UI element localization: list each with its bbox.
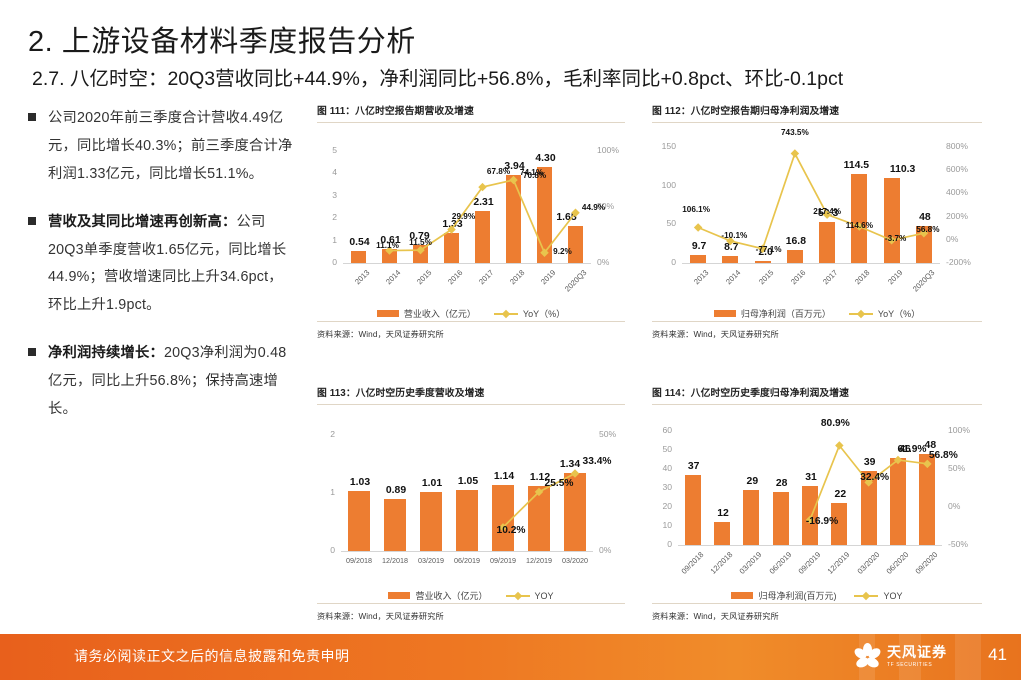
chart-card-fig111: 图 111：八亿时空报告期营收及增速 0123450%50%100%0.540.… xyxy=(317,103,625,348)
chart-title-fig111: 图 111：八亿时空报告期营收及增速 xyxy=(317,103,625,122)
chart-plot-fig113: 0120%50%1.030.891.011.051.141.121.3409/2… xyxy=(317,405,625,603)
chart-plot-fig114: 0102030405060-50%0%50%100%37122928312239… xyxy=(652,405,982,603)
line-value-label: 9.2% xyxy=(545,247,581,256)
line-value-label: 106.1% xyxy=(678,205,714,214)
legend-item-line: YOY xyxy=(854,591,902,601)
line-value-label: 80.9% xyxy=(817,418,853,429)
legend-line-swatch xyxy=(494,310,518,318)
chart-card-fig112: 图 112：八亿时空报告期归母净利润及增速 050100150-200%0%20… xyxy=(652,103,982,348)
bullet-body-0: 公司2020年前三季度合计营收4.49亿元，同比增长40.3%；前三季度合计净利… xyxy=(48,110,293,182)
legend-line-swatch xyxy=(506,592,530,600)
footer-stripe xyxy=(955,634,981,680)
brand-logo: 天风证券 TF SECURITIES xyxy=(855,643,947,669)
chart-legend: 营业收入（亿元） YoY（%） xyxy=(317,307,625,320)
legend-bar-label: 归母净利润(百万元) xyxy=(758,589,836,602)
legend-line-label: YOY xyxy=(535,591,554,601)
legend-bar-swatch xyxy=(377,310,399,317)
chart-plot-fig111: 0123450%50%100%0.540.610.791.332.313.944… xyxy=(317,123,625,321)
trend-line xyxy=(317,123,625,321)
line-value-label: 29.9% xyxy=(446,212,482,221)
legend-item-line: YOY xyxy=(506,591,554,601)
bullet-text-1: 营收及其同比增速再创新高：公司20Q3单季度营收1.65亿元，同比增长44.9%… xyxy=(48,209,296,321)
legend-bar-swatch xyxy=(731,592,753,599)
footer-bar: 请务必阅读正文之后的信息披露和免责申明 天风证券 TF SECURITIES 4… xyxy=(0,634,1021,680)
chart-legend: 归母净利润（百万元） YoY（%） xyxy=(652,307,982,320)
list-item: 公司2020年前三季度合计营收4.49亿元，同比增长40.3%；前三季度合计净利… xyxy=(28,105,296,189)
line-value-label: -10.1% xyxy=(716,231,752,240)
line-value-label: 217.4% xyxy=(809,207,845,216)
list-item: 净利润持续增长：20Q3净利润为0.48亿元，同比上升56.8%；保持高速增长。 xyxy=(28,340,296,424)
line-value-label: 70.8% xyxy=(523,171,546,180)
legend-line-label: YoY（%） xyxy=(878,307,920,320)
list-item: 营收及其同比增速再创新高：公司20Q3单季度营收1.65亿元，同比增长44.9%… xyxy=(28,209,296,321)
legend-item-line: YoY（%） xyxy=(849,307,920,320)
legend-bar-label: 营业收入（亿元） xyxy=(415,589,487,602)
legend-line-label: YoY（%） xyxy=(523,307,565,320)
chart-source-fig113: 资料来源：Wind，天风证券研究所 xyxy=(317,604,625,622)
page-subtitle: 2.7. 八亿时空：20Q3营收同比+44.9%，净利润同比+56.8%，毛利率… xyxy=(32,62,843,91)
trend-line xyxy=(652,123,982,321)
chart-card-fig114: 图 114：八亿时空历史季度归母净利润及增速 0102030405060-50%… xyxy=(652,385,982,630)
line-value-label: -3.7% xyxy=(878,234,914,243)
bullet-square-icon xyxy=(28,113,36,121)
bullet-square-icon xyxy=(28,348,36,356)
line-value-label: 25.5% xyxy=(541,478,577,489)
line-value-label: 743.5% xyxy=(777,128,813,137)
line-value-label: 33.4% xyxy=(579,456,615,467)
bullet-text-0: 公司2020年前三季度合计营收4.49亿元，同比增长40.3%；前三季度合计净利… xyxy=(48,105,296,189)
legend-item-line: YoY（%） xyxy=(494,307,565,320)
legend-bar-label: 归母净利润（百万元） xyxy=(741,307,831,320)
line-value-label: 11.5% xyxy=(403,238,439,247)
bullet-lead-2: 净利润持续增长： xyxy=(48,345,164,361)
chart-title-fig112: 图 112：八亿时空报告期归母净利润及增速 xyxy=(652,103,982,122)
chart-source-fig112: 资料来源：Wind，天风证券研究所 xyxy=(652,322,982,340)
bullet-square-icon xyxy=(28,217,36,225)
legend-item-bar: 归母净利润(百万元) xyxy=(731,589,836,602)
legend-item-bar: 归母净利润（百万元） xyxy=(714,307,831,320)
legend-item-bar: 营业收入（亿元） xyxy=(388,589,487,602)
bullet-lead-1: 营收及其同比增速再创新高： xyxy=(48,214,236,230)
line-value-label: 56.8% xyxy=(925,450,961,461)
chart-card-fig113: 图 113：八亿时空历史季度营收及增速 0120%50%1.030.891.01… xyxy=(317,385,625,630)
chart-plot-fig112: 050100150-200%0%200%400%600%800%9.78.72.… xyxy=(652,123,982,321)
chart-legend: 营业收入（亿元） YOY xyxy=(317,589,625,602)
line-value-label: 44.9% xyxy=(576,203,612,212)
legend-line-label: YOY xyxy=(883,591,902,601)
legend-line-swatch xyxy=(849,310,873,318)
chart-legend: 归母净利润(百万元) YOY xyxy=(652,589,982,602)
line-value-label: -16.9% xyxy=(804,516,840,527)
footer-disclaimer: 请务必阅读正文之后的信息披露和免责申明 xyxy=(74,646,350,666)
chart-title-fig114: 图 114：八亿时空历史季度归母净利润及增速 xyxy=(652,385,982,404)
slide: 2. 上游设备材料季度报告分析 2.7. 八亿时空：20Q3营收同比+44.9%… xyxy=(0,0,1021,680)
legend-line-swatch xyxy=(854,592,878,600)
line-value-label: 56.8% xyxy=(910,225,946,234)
brand-name-en: TF SECURITIES xyxy=(887,663,947,668)
chart-source-fig114: 资料来源：Wind，天风证券研究所 xyxy=(652,604,982,622)
legend-bar-label: 营业收入（亿元） xyxy=(404,307,476,320)
legend-item-bar: 营业收入（亿元） xyxy=(377,307,476,320)
page-title: 2. 上游设备材料季度报告分析 xyxy=(28,18,416,60)
line-value-label: 11.1% xyxy=(370,241,406,250)
flower-icon xyxy=(855,643,881,669)
line-value-label: 10.2% xyxy=(493,525,529,536)
chart-title-fig113: 图 113：八亿时空历史季度营收及增速 xyxy=(317,385,625,404)
line-value-label: -77.1% xyxy=(751,245,787,254)
brand-text: 天风证券 TF SECURITIES xyxy=(887,645,947,668)
legend-bar-swatch xyxy=(388,592,410,599)
legend-bar-swatch xyxy=(714,310,736,317)
chart-source-fig111: 资料来源：Wind，天风证券研究所 xyxy=(317,322,625,340)
brand-name-cn: 天风证券 xyxy=(887,644,947,660)
trend-line xyxy=(652,405,982,603)
bullet-list: 公司2020年前三季度合计营收4.49亿元，同比增长40.3%；前三季度合计净利… xyxy=(28,105,296,444)
trend-line xyxy=(317,405,625,603)
line-value-label: 67.8% xyxy=(481,167,517,176)
page-number: 41 xyxy=(988,645,1007,665)
bullet-text-2: 净利润持续增长：20Q3净利润为0.48亿元，同比上升56.8%；保持高速增长。 xyxy=(48,340,296,424)
line-value-label: 32.4% xyxy=(857,472,893,483)
line-value-label: 114.6% xyxy=(841,221,877,230)
